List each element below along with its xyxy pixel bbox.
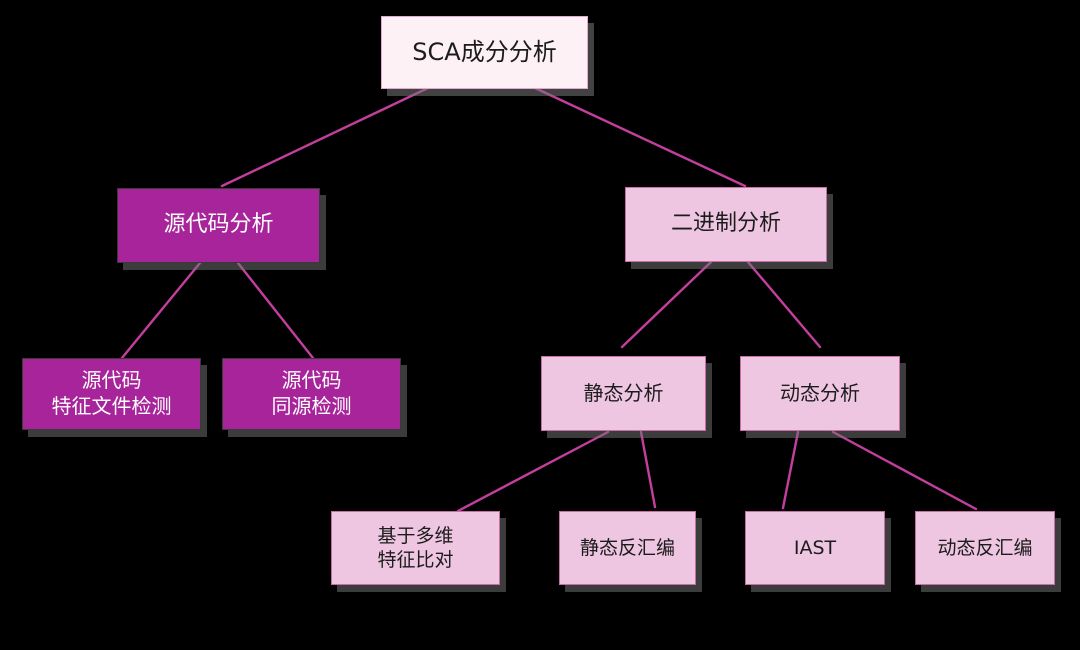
node-source-feature-file-detection[interactable]: 源代码 特征文件检测 <box>22 358 201 430</box>
node-dynamic-disassembly[interactable]: 动态反汇编 <box>915 511 1055 585</box>
node-source-homology-detection-label: 源代码 同源检测 <box>272 368 352 419</box>
edge-binary-to-static <box>622 262 711 347</box>
node-multi-dimensional-feature-comparison-label: 基于多维 特征比对 <box>377 524 453 573</box>
edge-binary-to-dynamic <box>748 262 820 347</box>
node-iast[interactable]: IAST <box>745 511 885 585</box>
node-dynamic-analysis-label: 动态分析 <box>780 381 860 407</box>
node-static-analysis-label: 静态分析 <box>584 381 664 407</box>
node-source-feature-file-detection-label: 源代码 特征文件检测 <box>52 368 172 419</box>
node-dynamic-analysis[interactable]: 动态分析 <box>740 356 900 431</box>
node-source-analysis-label: 源代码分析 <box>163 211 273 239</box>
node-static-analysis[interactable]: 静态分析 <box>541 356 706 431</box>
node-static-disassembly-label: 静态反汇编 <box>580 536 675 560</box>
edge-dynamic-to-dynamic-dis <box>833 432 976 509</box>
node-dynamic-disassembly-label: 动态反汇编 <box>937 536 1032 560</box>
node-binary-analysis[interactable]: 二进制分析 <box>625 187 827 262</box>
edge-root-to-source <box>222 88 428 186</box>
edge-source-to-src-homo <box>238 263 313 358</box>
edge-source-to-src-feat <box>122 263 200 358</box>
node-root-label: SCA成分分析 <box>412 37 556 68</box>
node-binary-analysis-label: 二进制分析 <box>671 210 781 238</box>
node-static-disassembly[interactable]: 静态反汇编 <box>559 511 696 585</box>
node-source-analysis[interactable]: 源代码分析 <box>117 188 320 263</box>
edge-dynamic-to-iast <box>783 432 798 508</box>
diagram-canvas: SCA成分分析 源代码分析 二进制分析 源代码 特征文件检测 源代码 同源检测 … <box>0 0 1080 650</box>
edge-static-to-multi-feat <box>458 432 608 511</box>
edge-static-to-static-dis <box>641 432 655 507</box>
node-iast-label: IAST <box>794 536 836 560</box>
edge-root-to-binary <box>535 88 745 186</box>
node-multi-dimensional-feature-comparison[interactable]: 基于多维 特征比对 <box>331 511 500 585</box>
node-source-homology-detection[interactable]: 源代码 同源检测 <box>222 358 401 430</box>
node-root[interactable]: SCA成分分析 <box>381 16 588 89</box>
